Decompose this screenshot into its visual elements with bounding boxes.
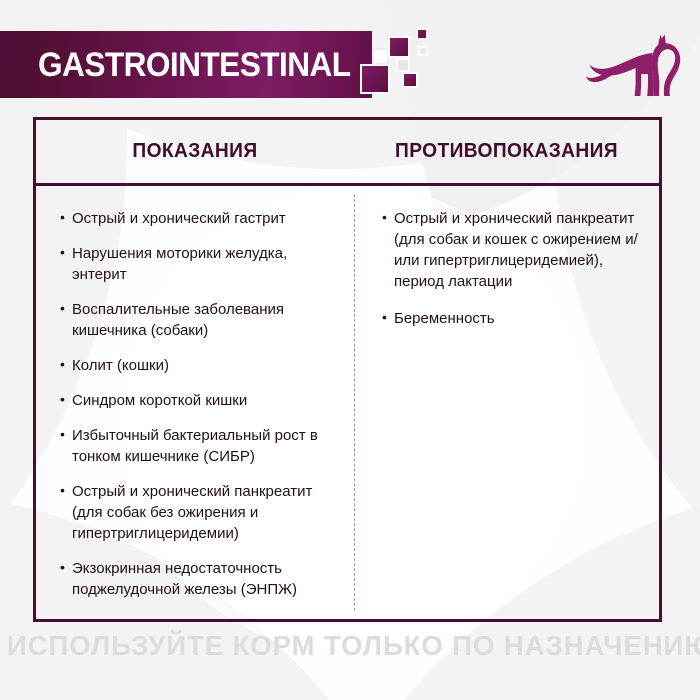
list-item: Колит (кошки) [60,355,338,376]
poster-page: GASTROINTESTINAL ПОКАЗАНИЯ ПРОТИВОПОКАЗА… [0,0,700,700]
column-header-indications: ПОКАЗАНИЯ [42,140,347,163]
list-item: Избыточный бактериальный рост в тонком к… [60,425,338,467]
decor-square [372,48,389,65]
column-header-contraindications: ПРОТИВОПОКАЗАНИЯ [360,140,653,163]
indications-column: Острый и хронический гастрит Нарушения м… [36,186,354,619]
squares-cluster-icon [360,28,440,108]
header-banner: GASTROINTESTINAL [0,31,372,98]
table-body: Острый и хронический гастрит Нарушения м… [36,186,659,619]
decor-square [416,28,428,40]
list-item: Острый и хронический гастрит [60,208,338,229]
decor-square [388,36,410,58]
list-item: Синдром короткой кишки [60,390,338,411]
footer-note: ИСПОЛЬЗУЙТЕ КОРМ ТОЛЬКО ПО НАЗНАЧЕНИЮ ВР… [7,630,693,662]
cat-silhouette-icon [586,26,682,104]
table-header-row: ПОКАЗАНИЯ ПРОТИВОПОКАЗАНИЯ [36,120,659,186]
decor-square [360,64,390,94]
list-item: Острый и хронический панкреатит (для соб… [60,481,338,544]
list-item: Экзокринная недостаточность поджелудочно… [60,558,338,600]
list-item: Острый и хронический панкреатит (для соб… [382,208,639,292]
decor-square [402,72,418,88]
list-item: Беременность [382,308,639,329]
column-divider [354,194,355,611]
list-item: Воспалительные заболевания кишечника (со… [60,299,338,341]
contraindications-column: Острый и хронический панкреатит (для соб… [354,186,659,619]
list-item: Нарушения моторики желудка, энтерит [60,243,338,285]
decor-square [396,58,410,72]
indications-table: ПОКАЗАНИЯ ПРОТИВОПОКАЗАНИЯ Острый и хрон… [33,117,662,622]
decor-square [418,46,428,56]
banner-title: GASTROINTESTINAL [38,48,351,82]
